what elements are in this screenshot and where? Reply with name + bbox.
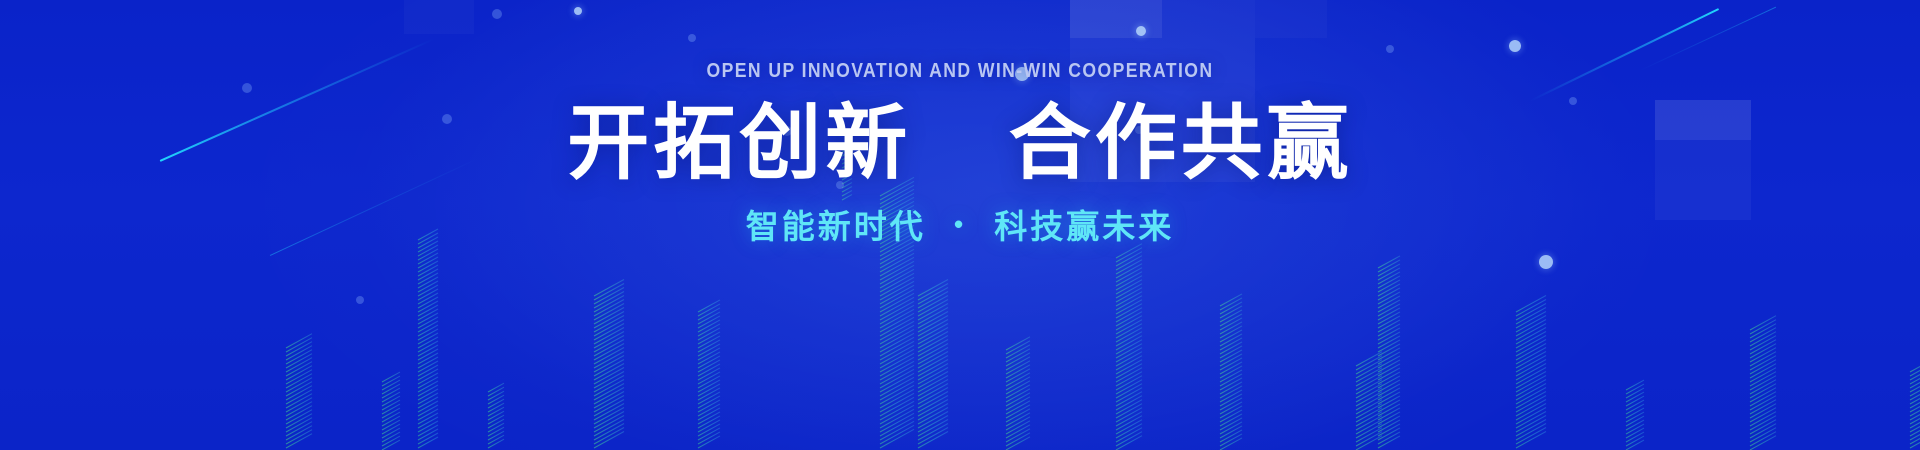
building-b-right-d [1236, 352, 1382, 450]
building-b-far-right-b [1388, 296, 1546, 450]
building-b-far-right-c [1552, 380, 1644, 450]
building-b-edge-right [1640, 316, 1776, 450]
building-b-far-left-low [168, 334, 312, 450]
building-b-right-b [1012, 244, 1142, 450]
subtitle-right-phrase: 科技赢未来 [994, 208, 1174, 245]
banner-headline: 开拓创新 合作共赢 [0, 101, 1920, 186]
headline-right-phrase: 合作共赢 [1009, 98, 1353, 189]
banner-text-block: OPEN UP INNOVATION AND WIN-WIN COOPERATI… [0, 0, 1920, 248]
building-b-center-spire [612, 300, 720, 450]
banner-eyebrow-text: OPEN UP INNOVATION AND WIN-WIN COOPERATI… [115, 60, 1805, 83]
building-b-edge-far [1790, 360, 1920, 450]
banner-subtitle: 智能新时代 • 科技赢未来 [0, 200, 1920, 248]
hero-banner: OPEN UP INNOVATION AND WIN-WIN COOPERATI… [0, 0, 1920, 450]
headline-left-phrase: 开拓创新 [567, 98, 911, 189]
building-b-left-tower [352, 229, 438, 450]
building-b-right-c [1128, 294, 1242, 450]
particle-dot-9 [1539, 255, 1553, 269]
subtitle-separator-dot: • [954, 209, 966, 240]
subtitle-left-phrase: 智能新时代 [746, 208, 926, 245]
particle-dot-14 [356, 296, 364, 304]
